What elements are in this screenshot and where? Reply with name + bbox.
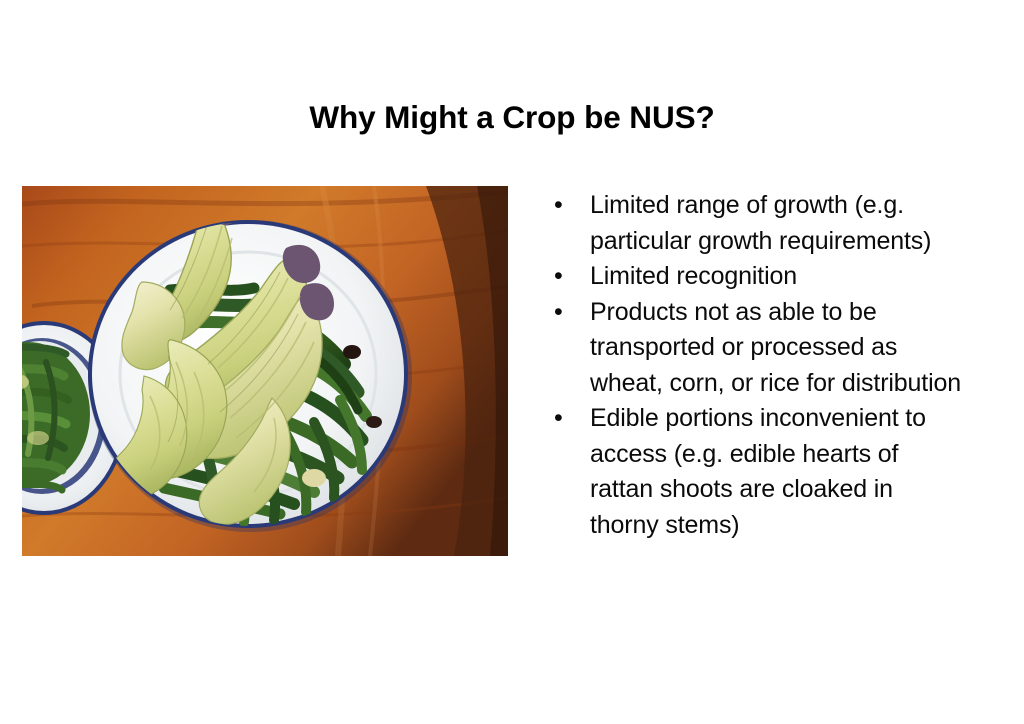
slide-canvas: Why Might a Crop be NUS? xyxy=(0,0,1024,724)
bullet-text: Products not as able to be transported o… xyxy=(590,295,968,402)
charred-bean-tip xyxy=(343,345,361,359)
list-item: • Limited recognition xyxy=(548,259,968,295)
garlic-piece xyxy=(302,469,326,487)
bullet-text: Limited recognition xyxy=(590,259,968,295)
bullet-marker-icon: • xyxy=(548,401,590,437)
rattan-shoots-and-green-beans-photo xyxy=(22,186,508,556)
bullet-text: Limited range of growth (e.g. particular… xyxy=(590,188,968,259)
bullet-list: • Limited range of growth (e.g. particul… xyxy=(548,188,968,543)
bullet-marker-icon: • xyxy=(548,188,590,224)
list-item: • Limited range of growth (e.g. particul… xyxy=(548,188,968,259)
list-item: • Products not as able to be transported… xyxy=(548,295,968,402)
photo-illustration xyxy=(22,186,508,556)
bullet-marker-icon: • xyxy=(548,295,590,331)
charred-bean-tip xyxy=(366,416,382,428)
page-title: Why Might a Crop be NUS? xyxy=(0,100,1024,135)
bullet-text: Edible portions inconvenient to access (… xyxy=(590,401,968,543)
bullet-marker-icon: • xyxy=(548,259,590,295)
list-item: • Edible portions inconvenient to access… xyxy=(548,401,968,543)
